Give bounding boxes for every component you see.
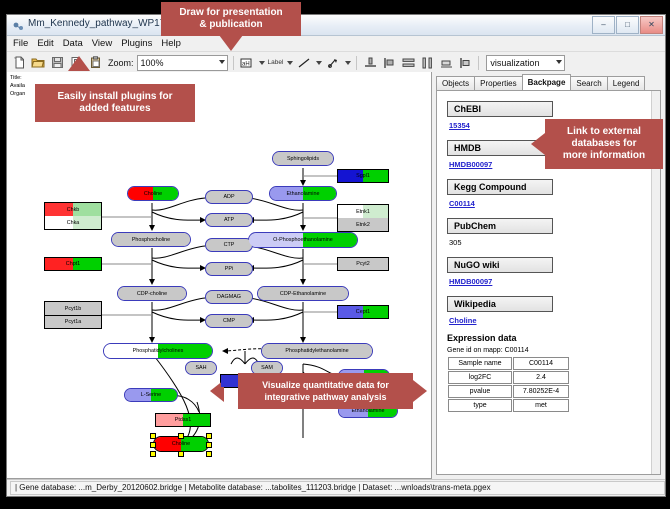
table-row: log2FC 2.4: [448, 371, 569, 384]
gene-label: Chkb: [67, 207, 80, 213]
node-label: PPi: [225, 266, 233, 272]
callout-links-line1: Link to external: [567, 126, 641, 138]
node-atp[interactable]: ATP: [205, 213, 253, 227]
selection-handle[interactable]: [150, 433, 156, 439]
node-label: Phosphatidylethanolamine: [285, 348, 348, 354]
selection-handle[interactable]: [150, 442, 156, 448]
node-label: Choline: [144, 191, 162, 197]
tab-backpage[interactable]: Backpage: [522, 74, 572, 91]
selection-handle[interactable]: [178, 433, 184, 439]
node-sah[interactable]: SAH: [185, 361, 217, 375]
table-row: pvalue 7.80252E-4: [448, 385, 569, 398]
gene-row: Chka: [45, 216, 101, 229]
title-bar: Mm_Kennedy_pathway_WP1771_45176.gpml – □…: [7, 15, 665, 36]
align-top-icon[interactable]: [362, 55, 378, 71]
callout-links: Link to external databases for more info…: [545, 119, 663, 169]
callout-draw-line1: Draw for presentation: [179, 7, 282, 19]
node-label: CMP: [223, 318, 235, 324]
chebi-header: ChEBI: [447, 101, 553, 117]
gene-label: Etnk2: [356, 222, 370, 228]
callout-visualize-line1: Visualize quantitative data for: [262, 379, 389, 391]
callout-plugins-line1: Easily install plugins for: [57, 91, 172, 103]
node-label: ADP: [223, 194, 234, 200]
status-bar: | Gene database: ...m_Derby_20120602.bri…: [7, 479, 665, 496]
gene-pcyt1b-pcyt1a[interactable]: Pcyt1b Pcyt1a: [44, 301, 102, 329]
maximize-button[interactable]: □: [616, 16, 639, 34]
chevron-down-icon: [219, 60, 225, 64]
chevron-down-icon[interactable]: [287, 61, 293, 65]
node-label: CDP-Ethanolamine: [280, 291, 326, 297]
toolbar: Zoom: 100% aH Label visualization: [7, 52, 665, 74]
node-label: Ethanolamine: [287, 191, 320, 197]
tab-legend[interactable]: Legend: [607, 76, 646, 91]
cell-key: type: [448, 399, 512, 412]
node-label: ATP: [224, 217, 234, 223]
new-file-icon[interactable]: [11, 55, 27, 71]
node-label: CDP-choline: [137, 291, 167, 297]
callout-plugins: Easily install plugins for added feature…: [35, 84, 195, 122]
node-ctp[interactable]: CTP: [205, 238, 253, 252]
menu-help[interactable]: Help: [161, 38, 181, 49]
gene-label: Pcyt1b: [65, 306, 81, 312]
label-dropdown-label: Label: [268, 59, 284, 66]
expression-data-title: Expression data: [447, 333, 654, 343]
menu-bar: File Edit Data View Plugins Help: [7, 36, 665, 52]
cell-key: Sample name: [448, 357, 512, 370]
gene-label: Cept1: [356, 309, 370, 315]
table-row: type met: [448, 399, 569, 412]
chevron-down-icon[interactable]: [345, 61, 351, 65]
visualization-value: visualization: [490, 58, 539, 68]
chevron-down-icon[interactable]: [259, 61, 265, 65]
gene-label: Pcyt2: [356, 261, 369, 267]
node-ethanolamine[interactable]: Ethanolamine: [269, 186, 337, 201]
node-label: L-Serine: [141, 392, 161, 398]
cell-value: 2.4: [513, 371, 569, 384]
callout-plugins-line2: added features: [79, 103, 150, 115]
node-adp[interactable]: ADP: [205, 190, 253, 204]
chevron-down-icon[interactable]: [316, 61, 322, 65]
node-label: DAGMAG: [217, 294, 241, 300]
node-choline-top[interactable]: Choline: [127, 186, 179, 201]
callout-draw: Draw for presentation & publication: [161, 2, 301, 36]
status-text: | Gene database: ...m_Derby_20120602.bri…: [10, 481, 665, 495]
gene-etnk1-etnk2[interactable]: Etnk1 Etnk2: [337, 204, 389, 232]
datanode-icon[interactable]: aH: [239, 55, 255, 71]
zoom-value: 100%: [141, 58, 164, 68]
gene-label: Chpt1: [66, 261, 80, 267]
selection-handle[interactable]: [206, 442, 212, 448]
cell-value: 7.80252E-4: [513, 385, 569, 398]
distribute-vertical-icon[interactable]: [400, 55, 416, 71]
distribute-horizontal-icon[interactable]: [419, 55, 435, 71]
interaction-icon[interactable]: [325, 55, 341, 71]
gene-ptdss1[interactable]: Ptdss1: [155, 413, 211, 427]
callout-links-arrow-icon: [531, 133, 545, 155]
chevron-down-icon: [556, 60, 562, 64]
line-icon[interactable]: [296, 55, 312, 71]
cell-key: pvalue: [448, 385, 512, 398]
zoom-label: Zoom:: [108, 58, 134, 68]
gene-row: Etnk2: [338, 218, 388, 231]
callout-links-line3: more information: [563, 150, 645, 162]
node-dagmag[interactable]: DAGMAG: [205, 290, 253, 304]
node-label: Choline: [172, 441, 190, 447]
gene-label: Etnk1: [356, 209, 370, 215]
open-folder-icon[interactable]: [30, 55, 46, 71]
kegg-compound-link[interactable]: C00114: [449, 199, 654, 208]
selection-handle[interactable]: [178, 451, 184, 457]
node-phosphocholine[interactable]: Phosphocholine: [111, 232, 191, 247]
gene-row: Chkb: [45, 203, 101, 217]
node-label: O-Phosphoethanolamine: [273, 237, 333, 243]
toolbar-separator: [478, 56, 479, 70]
node-cdp-ethanolamine[interactable]: CDP-Ethanolamine: [257, 286, 349, 301]
node-ppi[interactable]: PPi: [205, 262, 253, 276]
node-phosphatidylethanolamine[interactable]: Phosphatidylethanolamine: [261, 343, 373, 359]
node-label: SAH: [195, 365, 206, 371]
pathway-canvas[interactable]: Title: Availa Organ: [7, 72, 432, 479]
app-icon: [12, 19, 24, 31]
nugo-wiki-header: NuGO wiki: [447, 257, 553, 273]
kegg-compound-header: Kegg Compound: [447, 179, 553, 195]
callout-visualize: Visualize quantitative data for integrat…: [238, 373, 413, 409]
cell-key: log2FC: [448, 371, 512, 384]
tab-bar: Objects Properties Backpage Search Legen…: [436, 74, 644, 91]
screenshot-root: Mm_Kennedy_pathway_WP1771_45176.gpml – □…: [0, 0, 670, 509]
node-label: CTP: [224, 242, 235, 248]
node-cdp-choline[interactable]: CDP-choline: [117, 286, 187, 301]
node-label: Phosphocholine: [132, 237, 170, 243]
node-label: SAM: [261, 365, 273, 371]
save-icon[interactable]: [49, 55, 65, 71]
gene-chpt1[interactable]: Chpt1: [44, 257, 102, 271]
menu-edit[interactable]: Edit: [37, 38, 53, 49]
selection-handle[interactable]: [206, 451, 212, 457]
svg-text:aH: aH: [242, 61, 250, 67]
cell-value: met: [513, 399, 569, 412]
callout-links-line2: databases for: [571, 138, 636, 150]
node-o-phosphoethanolamine[interactable]: O-Phosphoethanolamine: [248, 232, 358, 248]
node-cmp[interactable]: CMP: [205, 314, 253, 328]
node-sphingolipids[interactable]: Sphingolipids: [272, 151, 334, 166]
menu-data[interactable]: Data: [63, 38, 83, 49]
gene-id-line: Gene id on mapp: C00114: [447, 347, 654, 354]
menu-file[interactable]: File: [13, 38, 28, 49]
wikipedia-header: Wikipedia: [447, 296, 553, 312]
wikipedia-link[interactable]: Choline: [449, 316, 654, 325]
selection-handle[interactable]: [150, 451, 156, 457]
gene-row: Pcyt1a: [45, 315, 101, 328]
gene-sgpl1[interactable]: Sgpl1: [337, 169, 389, 183]
align-left-icon[interactable]: [381, 55, 397, 71]
gene-label: Chka: [67, 220, 80, 226]
expression-data-table: Sample name C00114 log2FC 2.4 pvalue 7.8…: [447, 356, 570, 413]
gene-row: Pcyt1b: [45, 302, 101, 316]
node-phosphatidylcholines[interactable]: Phosphatidylcholines: [103, 343, 213, 359]
gene-label: Sgpl1: [356, 173, 370, 179]
cell-value: C00114: [513, 357, 569, 370]
minimize-button[interactable]: –: [592, 16, 615, 34]
callout-draw-line2: & publication: [199, 19, 262, 31]
table-row: Sample name C00114: [448, 357, 569, 370]
menu-plugins[interactable]: Plugins: [121, 38, 152, 49]
callout-draw-arrow-icon: [219, 35, 243, 51]
gene-label: Ptdss1: [175, 417, 191, 423]
gene-chkb-chka[interactable]: Chkb Chka: [44, 202, 102, 230]
application-window: Mm_Kennedy_pathway_WP1771_45176.gpml – □…: [6, 14, 666, 497]
toolbar-separator: [233, 56, 234, 70]
gene-label: Pcyt1a: [65, 319, 81, 325]
toolbar-separator: [356, 56, 357, 70]
node-label: Phosphatidylcholines: [133, 348, 184, 354]
callout-visualize-arrow-icon: [413, 380, 427, 402]
window-controls: – □ ✕: [592, 16, 663, 34]
zoom-combo[interactable]: 100%: [137, 55, 228, 71]
nugo-wiki-link[interactable]: HMDB00097: [449, 277, 654, 286]
callout-visualize-line2: integrative pathway analysis: [264, 391, 386, 403]
tab-properties[interactable]: Properties: [474, 76, 522, 91]
selection-handle[interactable]: [206, 433, 212, 439]
gene-pcyt2[interactable]: Pcyt2: [337, 257, 389, 271]
tab-search[interactable]: Search: [570, 76, 607, 91]
callout-plugins-arrow-icon: [68, 56, 90, 71]
visualization-combo[interactable]: visualization: [486, 55, 565, 71]
pubchem-value: 305: [449, 238, 654, 247]
pubchem-header: PubChem: [447, 218, 553, 234]
menu-view[interactable]: View: [92, 38, 112, 49]
gene-row: Etnk1: [338, 205, 388, 219]
gene-cept1[interactable]: Cept1: [337, 305, 389, 319]
node-label: Sphingolipids: [287, 156, 319, 162]
close-button[interactable]: ✕: [640, 16, 663, 34]
node-l-serine-1[interactable]: L-Serine: [124, 388, 178, 402]
stack-icon[interactable]: [457, 55, 473, 71]
size-equal-icon[interactable]: [438, 55, 454, 71]
tab-objects[interactable]: Objects: [436, 76, 475, 91]
